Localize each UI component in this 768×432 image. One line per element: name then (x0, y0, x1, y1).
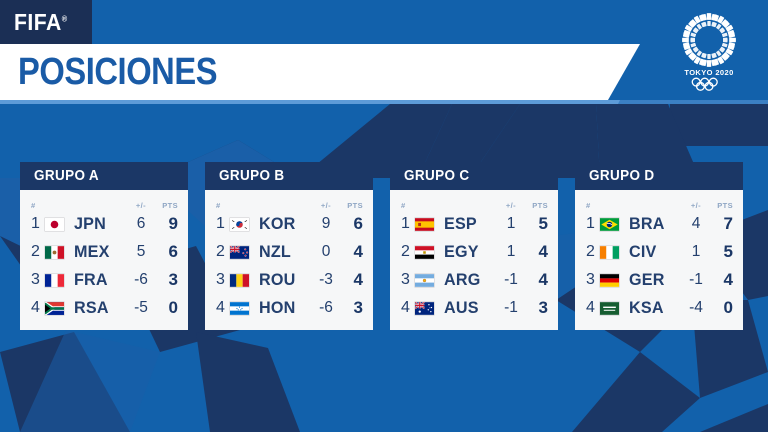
column-header-position: # (31, 201, 45, 210)
table-row[interactable]: 2CIV15 (575, 238, 743, 266)
row-position: 2 (401, 243, 415, 261)
title-underline (0, 100, 620, 104)
row-team-code: BRA (629, 214, 678, 234)
spain-flag (415, 218, 444, 231)
column-header-position: # (216, 201, 230, 210)
brazil-flag (600, 218, 629, 231)
column-header-goal-difference: +/- (311, 201, 341, 210)
group-card-b: GRUPO B#+/-PTS1KOR962NZL043ROU-344HON-63 (205, 162, 373, 330)
row-team-code: MEX (74, 242, 123, 262)
row-position: 4 (586, 299, 600, 317)
table-row[interactable]: 4KSA-40 (575, 294, 743, 322)
row-points: 0 (156, 298, 178, 318)
row-goal-difference: 9 (311, 215, 341, 233)
registered-trademark-icon: ® (62, 14, 68, 23)
olympic-rings-icon (689, 77, 729, 91)
row-goal-difference: 1 (681, 243, 711, 261)
row-goal-difference: -3 (311, 271, 341, 289)
table-column-headers: #+/-PTS (575, 195, 743, 210)
group-header-b: GRUPO B (205, 162, 373, 190)
row-points: 6 (341, 214, 363, 234)
row-points: 7 (711, 214, 733, 234)
row-goal-difference: 4 (681, 215, 711, 233)
row-position: 4 (401, 299, 415, 317)
group-title: GRUPO C (404, 168, 470, 184)
group-title: GRUPO B (219, 168, 285, 184)
row-goal-difference: 5 (126, 243, 156, 261)
row-goal-difference: -6 (126, 271, 156, 289)
table-row[interactable]: 2NZL04 (205, 238, 373, 266)
table-row[interactable]: 4HON-63 (205, 294, 373, 322)
column-header-position: # (586, 201, 600, 210)
row-points: 4 (526, 270, 548, 290)
fifa-logo-box: FIFA® (0, 0, 92, 44)
table-row[interactable]: 1ESP15 (390, 210, 558, 238)
table-row[interactable]: 4RSA-50 (20, 294, 188, 322)
table-row[interactable]: 1JPN69 (20, 210, 188, 238)
row-team-code: CIV (629, 242, 678, 262)
row-goal-difference: -4 (681, 299, 711, 317)
row-position: 3 (586, 271, 600, 289)
row-points: 4 (341, 270, 363, 290)
row-goal-difference: 1 (496, 215, 526, 233)
saudi-arabia-flag (600, 302, 629, 315)
new-zealand-flag (230, 246, 259, 259)
argentina-flag (415, 274, 444, 287)
row-goal-difference: 6 (126, 215, 156, 233)
mexico-flag (45, 246, 74, 259)
row-team-code: JPN (74, 214, 123, 234)
group-table-a: #+/-PTS1JPN692MEX563FRA-634RSA-50 (20, 190, 188, 330)
chequered-ring-icon (681, 12, 737, 68)
column-header-goal-difference: +/- (126, 201, 156, 210)
row-points: 3 (156, 270, 178, 290)
group-header-d: GRUPO D (575, 162, 743, 190)
table-row[interactable]: 3FRA-63 (20, 266, 188, 294)
table-column-headers: #+/-PTS (390, 195, 558, 210)
row-team-code: NZL (259, 242, 308, 262)
row-points: 3 (341, 298, 363, 318)
row-position: 3 (216, 271, 230, 289)
row-team-code: GER (629, 270, 678, 290)
group-table-d: #+/-PTS1BRA472CIV153GER-144KSA-40 (575, 190, 743, 330)
row-team-code: RSA (74, 298, 123, 318)
row-goal-difference: -6 (311, 299, 341, 317)
row-team-code: ARG (444, 270, 493, 290)
row-team-code: KSA (629, 298, 678, 318)
row-position: 2 (31, 243, 45, 261)
table-row[interactable]: 3GER-14 (575, 266, 743, 294)
romania-flag (230, 274, 259, 287)
row-position: 1 (216, 215, 230, 233)
group-header-c: GRUPO C (390, 162, 558, 190)
table-row[interactable]: 2MEX56 (20, 238, 188, 266)
row-points: 4 (711, 270, 733, 290)
group-table-c: #+/-PTS1ESP152EGY143ARG-144AUS-13 (390, 190, 558, 330)
row-position: 1 (586, 215, 600, 233)
row-team-code: EGY (444, 242, 493, 262)
row-goal-difference: -1 (496, 271, 526, 289)
header-bar (0, 0, 768, 44)
row-points: 6 (156, 242, 178, 262)
column-header-goal-difference: +/- (496, 201, 526, 210)
column-header-points: PTS (526, 201, 548, 210)
row-team-code: AUS (444, 298, 493, 318)
standings-graphic: FIFA® POSICIONES (0, 0, 768, 432)
egypt-flag (415, 246, 444, 259)
row-points: 9 (156, 214, 178, 234)
row-goal-difference: -1 (681, 271, 711, 289)
table-row[interactable]: 3ARG-14 (390, 266, 558, 294)
tokyo-2020-label: TOKYO 2020 (672, 68, 746, 77)
group-card-a: GRUPO A#+/-PTS1JPN692MEX563FRA-634RSA-50 (20, 162, 188, 330)
row-points: 4 (526, 242, 548, 262)
table-row[interactable]: 1KOR96 (205, 210, 373, 238)
group-header-a: GRUPO A (20, 162, 188, 190)
france-flag (45, 274, 74, 287)
row-goal-difference: -1 (496, 299, 526, 317)
south-korea-flag (230, 218, 259, 231)
group-table-b: #+/-PTS1KOR962NZL043ROU-344HON-63 (205, 190, 373, 330)
row-points: 5 (526, 214, 548, 234)
row-team-code: ESP (444, 214, 493, 234)
row-position: 2 (586, 243, 600, 261)
south-africa-flag (45, 302, 74, 315)
row-points: 4 (341, 242, 363, 262)
tokyo-2020-emblem: TOKYO 2020 (672, 12, 746, 90)
row-position: 1 (31, 215, 45, 233)
column-header-points: PTS (711, 201, 733, 210)
row-position: 2 (216, 243, 230, 261)
japan-flag (45, 218, 74, 231)
group-card-c: GRUPO C#+/-PTS1ESP152EGY143ARG-144AUS-13 (390, 162, 558, 330)
row-position: 4 (31, 299, 45, 317)
column-header-points: PTS (341, 201, 363, 210)
table-row[interactable]: 2EGY14 (390, 238, 558, 266)
row-team-code: KOR (259, 214, 308, 234)
row-position: 3 (401, 271, 415, 289)
table-row[interactable]: 3ROU-34 (205, 266, 373, 294)
table-row[interactable]: 4AUS-13 (390, 294, 558, 322)
row-position: 4 (216, 299, 230, 317)
row-points: 5 (711, 242, 733, 262)
row-position: 3 (31, 271, 45, 289)
table-row[interactable]: 1BRA47 (575, 210, 743, 238)
group-card-d: GRUPO D#+/-PTS1BRA472CIV153GER-144KSA-40 (575, 162, 743, 330)
column-header-position: # (401, 201, 415, 210)
germany-flag (600, 274, 629, 287)
page-title: POSICIONES (18, 50, 217, 94)
fifa-logo-text: FIFA® (14, 9, 68, 36)
row-position: 1 (401, 215, 415, 233)
ivory-coast-flag (600, 246, 629, 259)
row-team-code: ROU (259, 270, 308, 290)
column-header-points: PTS (156, 201, 178, 210)
group-title: GRUPO D (589, 168, 655, 184)
row-goal-difference: -5 (126, 299, 156, 317)
group-title: GRUPO A (34, 168, 99, 184)
row-team-code: HON (259, 298, 308, 318)
row-goal-difference: 1 (496, 243, 526, 261)
column-header-goal-difference: +/- (681, 201, 711, 210)
australia-flag (415, 302, 444, 315)
row-points: 3 (526, 298, 548, 318)
row-points: 0 (711, 298, 733, 318)
honduras-flag (230, 302, 259, 315)
table-column-headers: #+/-PTS (205, 195, 373, 210)
table-column-headers: #+/-PTS (20, 195, 188, 210)
row-goal-difference: 0 (311, 243, 341, 261)
row-team-code: FRA (74, 270, 123, 290)
